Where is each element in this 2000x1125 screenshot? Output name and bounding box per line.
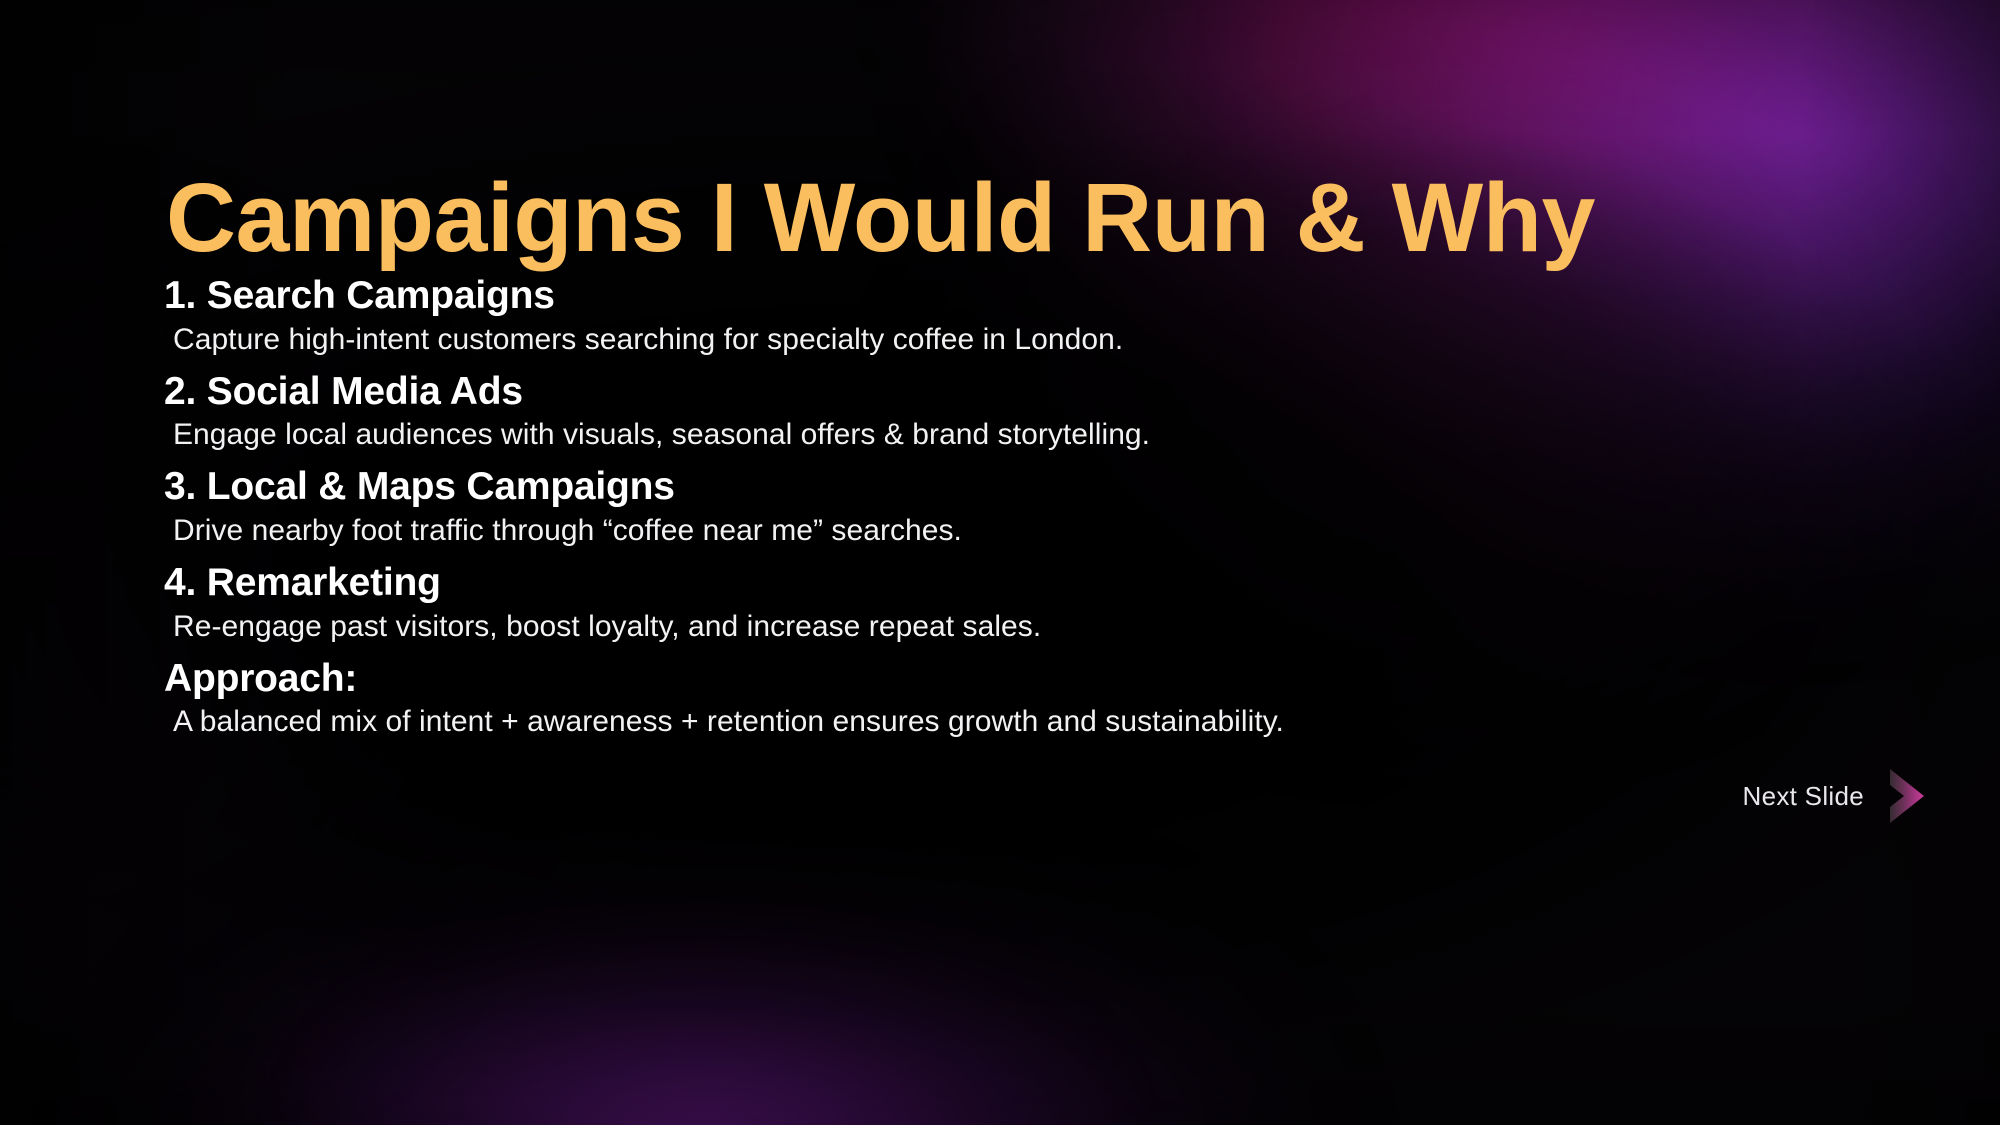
list-item: Approach: A balanced mix of intent + awa…	[164, 657, 1844, 741]
slide-content: Campaigns I Would Run & Why 1. Search Ca…	[0, 0, 2000, 1125]
list-item: 2. Social Media Ads Engage local audienc…	[164, 370, 1844, 454]
campaign-heading-1: 1. Search Campaigns	[164, 274, 1844, 318]
campaign-body-3: Drive nearby foot traffic through “coffe…	[173, 513, 1844, 549]
next-slide-button[interactable]: Next Slide	[1743, 767, 1929, 825]
chevron-right-icon[interactable]	[1886, 767, 1928, 825]
page-title: Campaigns I Would Run & Why	[166, 169, 1595, 266]
approach-body: A balanced mix of intent + awareness + r…	[173, 704, 1844, 740]
list-item: 1. Search Campaigns Capture high-intent …	[164, 274, 1844, 358]
next-slide-label: Next Slide	[1743, 781, 1865, 812]
campaign-heading-4: 4. Remarketing	[164, 561, 1844, 605]
approach-heading: Approach:	[164, 657, 1844, 701]
campaign-body-2: Engage local audiences with visuals, sea…	[173, 417, 1844, 453]
campaign-list: 1. Search Campaigns Capture high-intent …	[164, 274, 1844, 752]
list-item: 3. Local & Maps Campaigns Drive nearby f…	[164, 465, 1844, 549]
list-item: 4. Remarketing Re-engage past visitors, …	[164, 561, 1844, 645]
campaign-heading-2: 2. Social Media Ads	[164, 370, 1844, 414]
slide-canvas: Campaigns I Would Run & Why 1. Search Ca…	[0, 0, 2000, 1125]
campaign-heading-3: 3. Local & Maps Campaigns	[164, 465, 1844, 509]
campaign-body-1: Capture high-intent customers searching …	[173, 322, 1844, 358]
campaign-body-4: Re-engage past visitors, boost loyalty, …	[173, 609, 1844, 645]
